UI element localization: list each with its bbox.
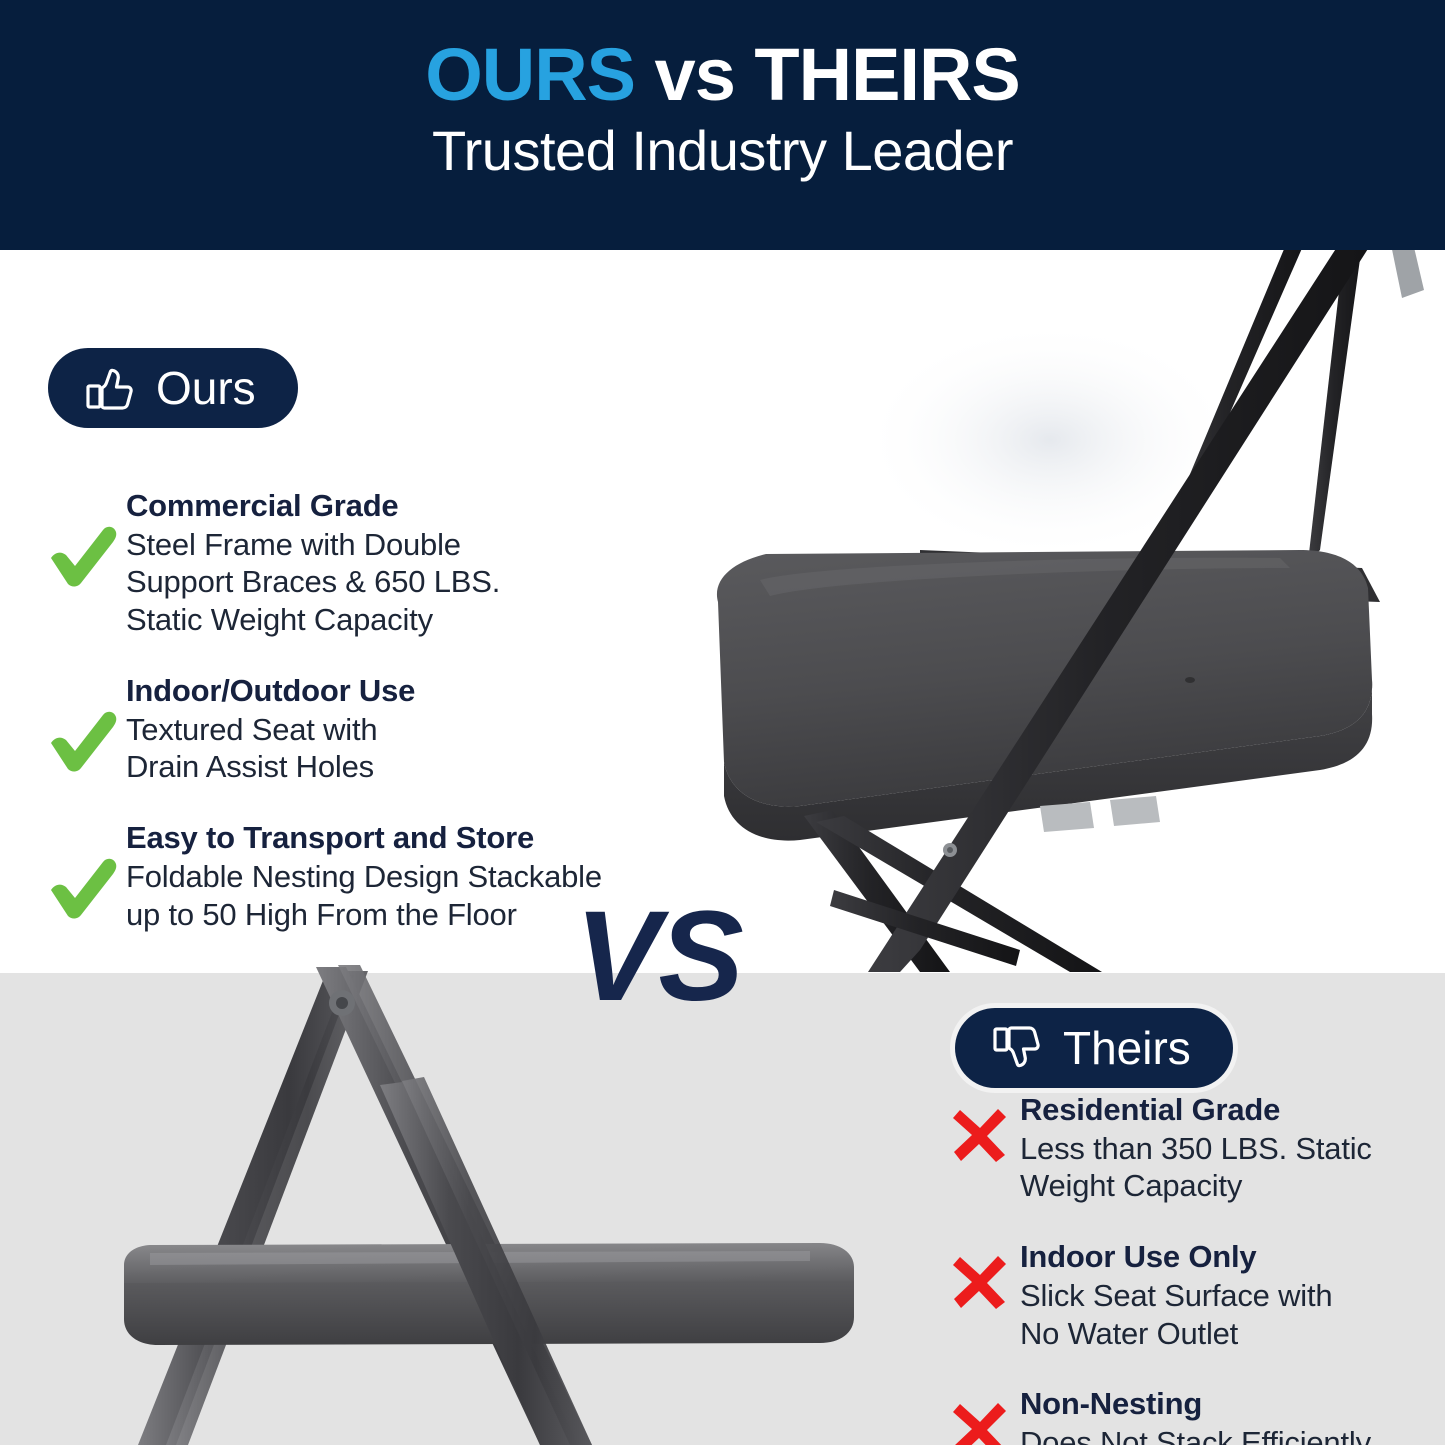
ours-badge[interactable]: Ours (48, 348, 298, 428)
vs-label: VS (575, 893, 742, 1021)
theirs-badge-label: Theirs (1063, 1025, 1191, 1071)
feature-title: Indoor/Outdoor Use (126, 673, 660, 710)
green-check-icon (40, 820, 126, 922)
feature-description: Less than 350 LBS. Static Weight Capacit… (1020, 1130, 1410, 1206)
red-x-icon (940, 1239, 1020, 1311)
feature-text-block: Indoor/Outdoor Use Textured Seat with Dr… (126, 673, 660, 786)
feature-title: Easy to Transport and Store (126, 820, 660, 857)
feature-title: Residential Grade (1020, 1092, 1410, 1129)
green-check-icon (40, 488, 126, 590)
page-subtitle: Trusted Industry Leader (432, 120, 1013, 182)
feature-text-block: Indoor Use Only Slick Seat Surface with … (1020, 1239, 1410, 1352)
ours-feature-list: Commercial Grade Steel Frame with Double… (40, 488, 660, 933)
ours-badge-label: Ours (156, 365, 256, 411)
red-x-icon (940, 1386, 1020, 1445)
feature-title: Non-Nesting (1020, 1386, 1410, 1423)
feature-text-block: Commercial Grade Steel Frame with Double… (126, 488, 660, 639)
theirs-badge[interactable]: Theirs (955, 1008, 1233, 1088)
feature-text-block: Residential Grade Less than 350 LBS. Sta… (1020, 1092, 1410, 1205)
feature-description: Textured Seat with Drain Assist Holes (126, 711, 660, 787)
red-x-icon (940, 1092, 1020, 1164)
thumbs-down-icon (991, 1022, 1043, 1074)
title-rest: vs THEIRS (635, 33, 1020, 116)
page-title: OURS vs THEIRS (425, 36, 1020, 114)
title-highlight: OURS (425, 33, 635, 116)
infographic-canvas: OURS vs THEIRS Trusted Industry Leader (0, 0, 1445, 1445)
commercial-chair-image (620, 250, 1445, 973)
feature-text-block: Non-Nesting Does Not Stack Efficiently (1020, 1386, 1410, 1445)
residential-chair-image (80, 965, 900, 1445)
thumbs-up-icon (84, 362, 136, 414)
ours-feature-item: Commercial Grade Steel Frame with Double… (40, 488, 660, 639)
feature-title: Indoor Use Only (1020, 1239, 1410, 1276)
feature-description: Steel Frame with Double Support Braces &… (126, 526, 660, 639)
ours-feature-item: Indoor/Outdoor Use Textured Seat with Dr… (40, 673, 660, 786)
feature-title: Commercial Grade (126, 488, 660, 525)
green-check-icon (40, 673, 126, 775)
feature-description: Does Not Stack Efficiently (1020, 1424, 1410, 1445)
theirs-feature-list: Residential Grade Less than 350 LBS. Sta… (940, 1092, 1410, 1445)
header-banner: OURS vs THEIRS Trusted Industry Leader (0, 0, 1445, 250)
theirs-feature-item: Non-Nesting Does Not Stack Efficiently (940, 1386, 1410, 1445)
theirs-feature-item: Indoor Use Only Slick Seat Surface with … (940, 1239, 1410, 1352)
ours-feature-item: Easy to Transport and Store Foldable Nes… (40, 820, 660, 933)
theirs-feature-item: Residential Grade Less than 350 LBS. Sta… (940, 1092, 1410, 1205)
feature-description: Slick Seat Surface with No Water Outlet (1020, 1277, 1410, 1353)
